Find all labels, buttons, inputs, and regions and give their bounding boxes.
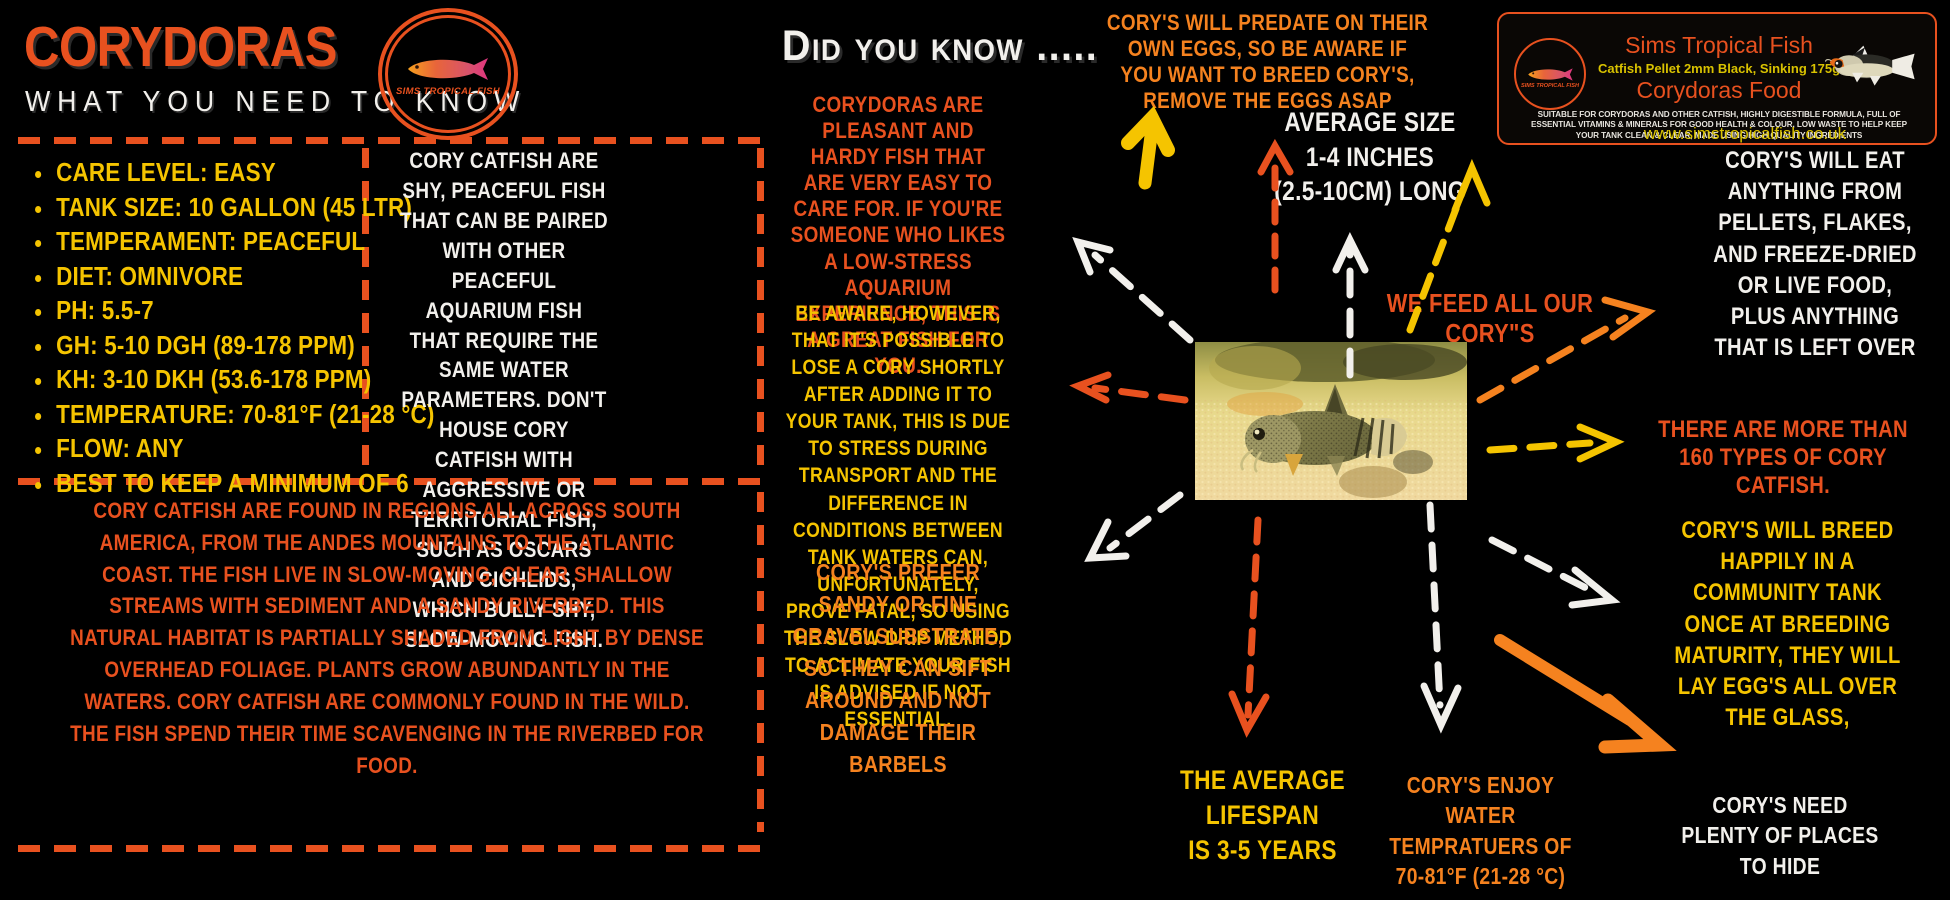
divider-vertical-bottom xyxy=(757,492,764,832)
arrowhead-white-substrate xyxy=(1090,522,1126,558)
fact-we-feed: WE FEED ALL OUR CORY"S xyxy=(1343,288,1637,348)
arrow-up-yellow-eggs xyxy=(1128,118,1168,183)
arrowhead-orange-lifespan xyxy=(1232,694,1266,730)
arrow-right-yellow-types xyxy=(1490,443,1590,450)
arowana-fish-icon xyxy=(1526,66,1576,83)
arrowhead-yellow-types xyxy=(1580,427,1616,459)
arrow-down-white-temp xyxy=(1430,505,1440,705)
fact-eggs: CORY'S WILL PREDATE ON THEIR OWN EGGS, S… xyxy=(1106,10,1429,114)
fact-breed: CORY'S WILL BREED HAPPILY IN A COMMUNITY… xyxy=(1672,515,1903,733)
page-title: CORYDORAS xyxy=(24,14,337,80)
spec-list: CARE LEVEL: EASY TANK SIZE: 10 GALLON (4… xyxy=(28,156,358,501)
product-brand: Sims Tropical Fish xyxy=(1594,32,1844,59)
fact-hiding: CORY'S NEED PLENTY OF PLACES TO HIDE xyxy=(1671,790,1889,881)
fact-will-eat: CORY'S WILL EAT ANYTHING FROM PELLETS, F… xyxy=(1710,145,1920,363)
fact-water-temp: CORY'S ENJOY WATER TEMPRATUERS OF 70-81°… xyxy=(1386,770,1575,891)
fact-types: THERE ARE MORE THAN 160 TYPES OF CORY CA… xyxy=(1653,416,1913,499)
product-url[interactable]: www.simstropicalfish.co.uk xyxy=(1620,124,1870,144)
fact-lifespan: THE AVERAGE LIFESPAN IS 3-5 YEARS xyxy=(1172,763,1353,868)
corydoras-photo xyxy=(1195,342,1467,500)
list-item: KH: 3-10 DKH (53.6-178 PPM) xyxy=(28,363,318,398)
arrow-downright-orange-hiding xyxy=(1500,640,1660,747)
product-name: Corydoras Food xyxy=(1594,77,1844,104)
corydoras-fish-illustration xyxy=(1825,36,1921,92)
divider-bottom xyxy=(18,845,760,852)
product-variant: Catfish Pellet 2mm Black, Sinking 175g xyxy=(1594,61,1844,76)
arrow-left-orange-beaware xyxy=(1095,388,1185,400)
habitat-text: CORY CATFISH ARE FOUND IN REGIONS ALL AC… xyxy=(67,495,707,781)
arrowhead-orange-beaware xyxy=(1078,375,1108,400)
product-logo-text: SIMS TROPICAL FISH xyxy=(1516,83,1584,89)
list-item: PH: 5.5-7 xyxy=(28,294,318,329)
arrow-downright-white-breed xyxy=(1492,540,1590,590)
logo-text: SIMS TROPICAL FISH xyxy=(378,86,518,97)
product-logo: SIMS TROPICAL FISH xyxy=(1514,38,1586,110)
arrowhead-white-temp xyxy=(1424,686,1458,725)
fact-average-size: AVERAGE SIZE 1-4 INCHES (2.5-10CM) LONG xyxy=(1261,105,1479,209)
arrow-downleft-white-substrate xyxy=(1110,495,1180,548)
left-panel: CORYDORAS WHAT YOU NEED TO KNOW SIMS TRO… xyxy=(0,0,778,900)
brand-logo: SIMS TROPICAL FISH xyxy=(378,8,518,140)
arrowhead-white-size xyxy=(1336,240,1365,270)
divider-top xyxy=(18,137,760,144)
arrowhead-white-breed xyxy=(1572,570,1612,605)
divider-vertical-right xyxy=(757,148,764,478)
arowana-fish-icon xyxy=(404,54,494,84)
arrow-down-orange-lifespan xyxy=(1248,520,1258,715)
fact-substrate: CORY'S PREFER SANDY OR FINE GRAVELSUBSTR… xyxy=(792,557,1004,781)
list-item: FLOW: ANY xyxy=(28,432,318,467)
arrow-upleft-white-pleasant xyxy=(1095,255,1190,340)
list-item: TEMPERATURE: 70-81°F (21-28 °C) xyxy=(28,398,318,433)
corydoras-photo-image xyxy=(1195,342,1467,500)
list-item: GH: 5-10 DGH (89-178 PPM) xyxy=(28,329,318,364)
list-item: TEMPERAMENT: PEACEFUL xyxy=(28,225,318,260)
list-item: CARE LEVEL: EASY xyxy=(28,156,318,191)
infographic-poster: CORYDORAS WHAT YOU NEED TO KNOW SIMS TRO… xyxy=(0,0,1950,900)
arrowhead-white-pleasant xyxy=(1078,242,1110,272)
list-item: DIET: OMNIVORE xyxy=(28,260,318,295)
list-item: TANK SIZE: 10 GALLON (45 LTR) xyxy=(28,191,318,226)
